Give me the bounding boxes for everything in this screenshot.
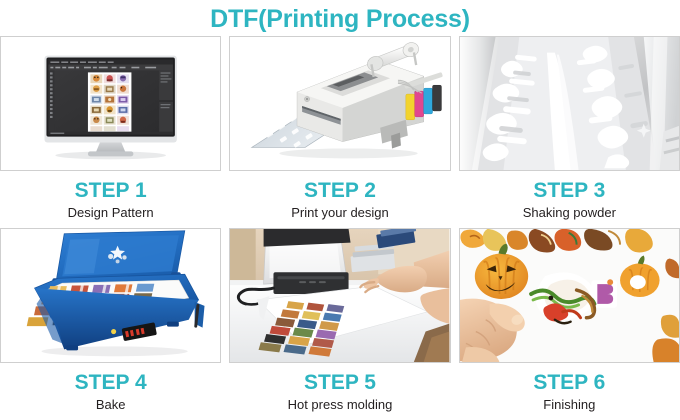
page-title: DTF(Printing Process) bbox=[0, 4, 680, 34]
step-card-3: STEP 3 Shaking powder bbox=[459, 36, 680, 228]
step-card-5: STEP 5 Hot press molding bbox=[229, 228, 450, 420]
step-label: STEP 1 bbox=[75, 180, 147, 202]
dtf-printing-process-infographic: DTF(Printing Process) bbox=[0, 0, 680, 420]
step-description: Hot press molding bbox=[288, 397, 393, 412]
step-card-1: STEP 1 Design Pattern bbox=[0, 36, 221, 228]
step-label: STEP 4 bbox=[75, 372, 147, 394]
powder-shaker-machine bbox=[459, 36, 680, 171]
steps-grid: STEP 1 Design Pattern bbox=[0, 36, 680, 420]
step-description: Print your design bbox=[291, 205, 389, 220]
dtf-printer-with-film-roll bbox=[229, 36, 450, 171]
step-card-4: STEP 4 Bake bbox=[0, 228, 221, 420]
step-description: Shaking powder bbox=[523, 205, 616, 220]
step-description: Finishing bbox=[543, 397, 595, 412]
step-card-6: STEP 6 Finishing bbox=[459, 228, 680, 420]
blue-curing-oven bbox=[0, 228, 221, 363]
step-label: STEP 6 bbox=[533, 372, 605, 394]
step-label: STEP 2 bbox=[304, 180, 376, 202]
step-description: Bake bbox=[96, 397, 126, 412]
step-label: STEP 3 bbox=[533, 180, 605, 202]
peeling-finished-transfers bbox=[459, 228, 680, 363]
step-label: STEP 5 bbox=[304, 372, 376, 394]
computer-monitor-design-software bbox=[0, 36, 221, 171]
step-card-2: STEP 2 Print your design bbox=[229, 36, 450, 228]
heat-press-workstation bbox=[229, 228, 450, 363]
step-description: Design Pattern bbox=[68, 205, 154, 220]
